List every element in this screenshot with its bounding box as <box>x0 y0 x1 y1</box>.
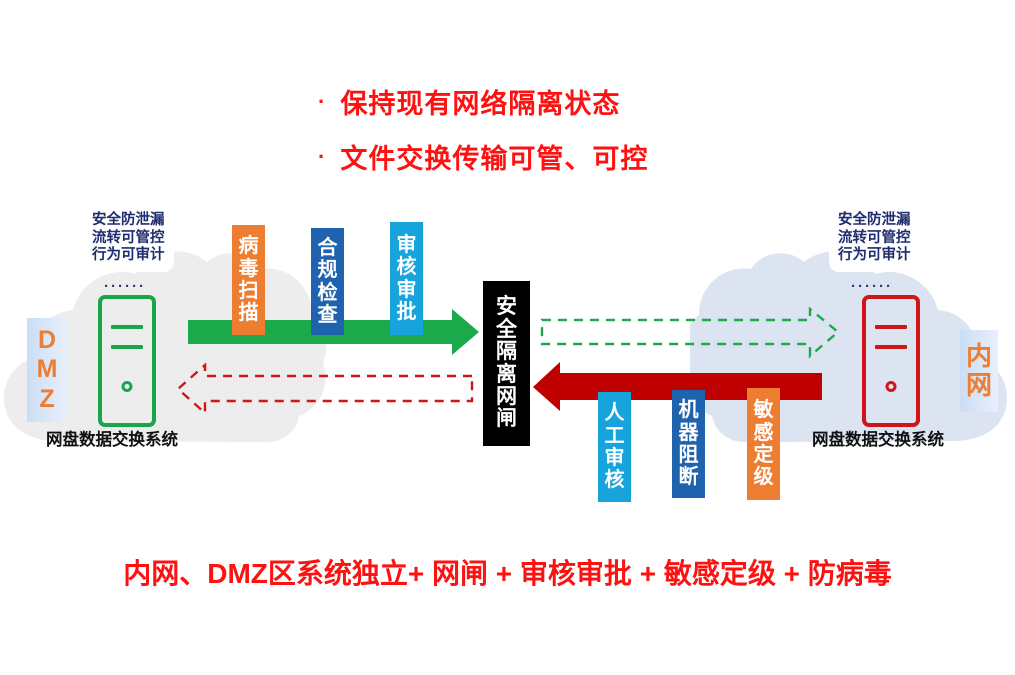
gateway-char-2: 全 <box>496 319 517 341</box>
chip-sensitivity-grade-char-1: 敏 <box>754 399 774 421</box>
server-bar-bottom <box>875 345 907 349</box>
intranet-char-1: 内 <box>966 342 992 371</box>
chip-review-approval-char-3: 审 <box>397 279 417 301</box>
chip-manual-review-char-3: 审 <box>605 447 625 469</box>
intranet-system-caption: 网盘数据交换系统 <box>812 426 944 450</box>
chip-compliance-check-char-4: 查 <box>318 304 338 326</box>
bullet-marker-icon: · <box>318 146 326 168</box>
chip-compliance-check-char-2: 规 <box>318 259 338 281</box>
chip-sensitivity-grade: 敏 感 定 级 <box>747 388 780 500</box>
chip-virus-scan-char-1: 病 <box>239 235 259 257</box>
gateway-char-3: 隔 <box>496 341 517 363</box>
chip-virus-scan-char-4: 描 <box>239 302 259 324</box>
chip-review-approval-char-1: 审 <box>397 234 417 256</box>
chip-machine-blocking-char-4: 断 <box>679 466 699 488</box>
intranet-server-icon <box>862 295 920 427</box>
dmz-zone-label: D M Z <box>27 318 67 422</box>
bullet-marker-icon: · <box>318 91 326 113</box>
chip-compliance-check: 合 规 检 查 <box>311 228 344 335</box>
security-gateway-box: 安 全 隔 离 网 闸 <box>483 281 530 446</box>
chip-manual-review: 人 工 审 核 <box>598 392 631 502</box>
dmz-char-1: D <box>38 326 56 355</box>
header-bullet-2-text: 文件交换传输可管、可控 <box>340 137 648 176</box>
server-bar-top <box>875 325 907 329</box>
chip-virus-scan: 病 毒 扫 描 <box>232 225 265 335</box>
gateway-char-5: 网 <box>496 386 517 408</box>
dmz-callout-line-2: 流转可管控 <box>92 230 165 248</box>
server-power-dot <box>122 381 133 392</box>
intranet-callout-line-1: 安全防泄漏 <box>838 212 911 230</box>
chip-machine-blocking-char-2: 器 <box>679 422 699 444</box>
intranet-zone-label: 内 网 <box>960 330 998 412</box>
chip-review-approval-char-4: 批 <box>397 301 417 323</box>
chip-machine-blocking-char-1: 机 <box>679 399 699 421</box>
intranet-callout-tail-dots: ······ <box>851 279 893 294</box>
chip-virus-scan-char-3: 扫 <box>239 280 259 302</box>
header-bullet-1-text: 保持现有网络隔离状态 <box>340 82 620 121</box>
intranet-char-2: 网 <box>966 371 992 400</box>
intranet-callout-line-2: 流转可管控 <box>838 230 911 248</box>
server-bar-top <box>111 325 143 329</box>
dmz-callout-line-1: 安全防泄漏 <box>92 212 165 230</box>
dmz-char-2: M <box>37 355 58 384</box>
intranet-callout-line-3: 行为可审计 <box>838 247 911 265</box>
server-bar-bottom <box>111 345 143 349</box>
diagram-canvas: · 保持现有网络隔离状态 · 文件交换传输可管、可控 安全防泄漏 流转可管控 行… <box>0 0 1015 675</box>
header-bullet-1: · 保持现有网络隔离状态 <box>318 82 620 121</box>
dmz-callout-line-3: 行为可审计 <box>92 247 165 265</box>
dmz-char-3: Z <box>39 385 54 414</box>
dmz-server-icon <box>98 295 156 427</box>
footer-summary-text: 内网、DMZ区系统独立+ 网闸 + 审核审批 + 敏感定级 + 防病毒 <box>0 552 1015 592</box>
chip-compliance-check-char-1: 合 <box>318 237 338 259</box>
chip-review-approval-char-2: 核 <box>397 256 417 278</box>
gateway-char-1: 安 <box>496 296 517 318</box>
chip-manual-review-char-4: 核 <box>605 469 625 491</box>
dmz-callout-tail-dots: ······ <box>104 279 146 294</box>
chip-compliance-check-char-3: 检 <box>318 282 338 304</box>
chip-sensitivity-grade-char-2: 感 <box>754 422 774 444</box>
chip-manual-review-char-1: 人 <box>605 402 625 424</box>
dmz-system-caption: 网盘数据交换系统 <box>46 426 178 450</box>
chip-virus-scan-char-2: 毒 <box>239 258 259 280</box>
intranet-callout-bubble: 安全防泄漏 流转可管控 行为可审计 <box>829 206 920 272</box>
gateway-char-4: 离 <box>496 364 517 386</box>
dmz-callout-bubble: 安全防泄漏 流转可管控 行为可审计 <box>83 206 174 272</box>
header-bullet-2: · 文件交换传输可管、可控 <box>318 137 648 176</box>
chip-machine-blocking: 机 器 阻 断 <box>672 390 705 498</box>
server-power-dot <box>886 381 897 392</box>
chip-review-approval: 审 核 审 批 <box>390 222 423 335</box>
chip-machine-blocking-char-3: 阻 <box>679 444 699 466</box>
gateway-char-6: 闸 <box>496 408 517 430</box>
chip-sensitivity-grade-char-4: 级 <box>754 466 774 488</box>
chip-sensitivity-grade-char-3: 定 <box>754 444 774 466</box>
chip-manual-review-char-2: 工 <box>605 425 625 447</box>
